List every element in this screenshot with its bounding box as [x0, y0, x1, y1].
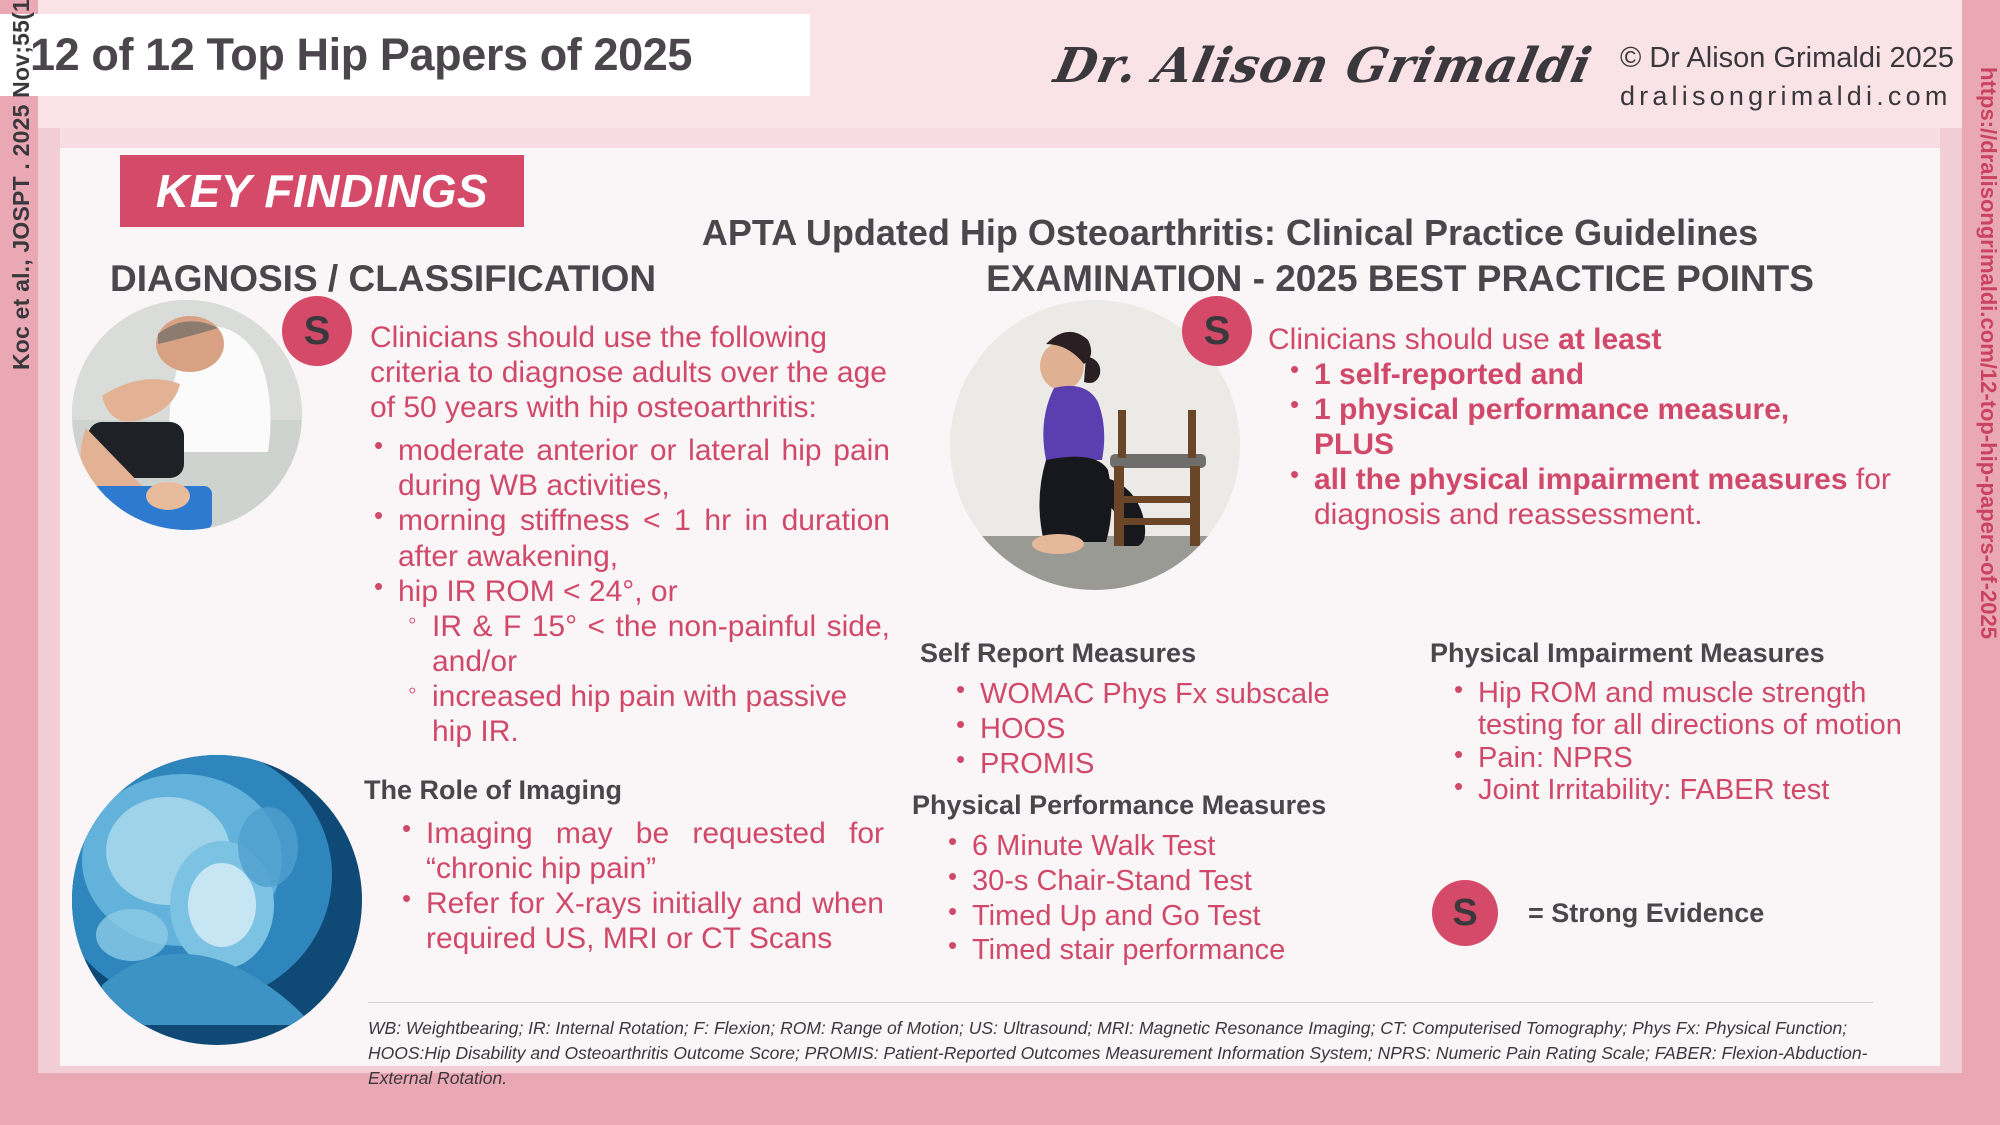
physical-performance-block: Physical Performance Measures 6 Minute W… — [912, 790, 1412, 968]
strong-evidence-badge-diagnosis: S — [282, 296, 352, 366]
journal-citation: Koc et al., JOSPT . 2025 Nov;55(11):CPG1… — [8, 0, 35, 370]
examination-text-block: Clinicians should use at least 1 self-re… — [1268, 322, 1928, 533]
physical-performance-list: 6 Minute Walk Test 30-s Chair-Stand Test… — [944, 829, 1412, 968]
list-item: Imaging may be requested for “chronic hi… — [398, 816, 884, 886]
legend-block: S = Strong Evidence — [1432, 880, 1764, 946]
bullet-continuation: PLUS — [1314, 427, 1928, 462]
self-report-block: Self Report Measures WOMAC Phys Fx subsc… — [920, 638, 1400, 781]
examination-intro-bold: at least — [1558, 323, 1661, 356]
list-item: Timed Up and Go Test — [944, 899, 1412, 934]
list-item: Refer for X-rays initially and when requ… — [398, 886, 884, 956]
page-title-plate: 12 of 12 Top Hip Papers of 2025 — [0, 14, 810, 96]
imaging-heading: The Role of Imaging — [364, 775, 884, 806]
list-item: IR & F 15° < the non-painful side, and/o… — [404, 609, 890, 679]
physical-impairment-list: Hip ROM and muscle strength testing for … — [1450, 677, 1910, 807]
examination-intro-plain: Clinicians should use — [1268, 323, 1558, 356]
hip-exam-illustration-icon — [72, 300, 302, 530]
list-item: 30-s Chair-Stand Test — [944, 864, 1412, 899]
copyright-text: © Dr Alison Grimaldi 2025 — [1620, 42, 1954, 75]
self-report-heading: Self Report Measures — [920, 638, 1400, 669]
diagnosis-text-block: Clinicians should use the following crit… — [370, 320, 890, 749]
list-item: 6 Minute Walk Test — [944, 829, 1412, 864]
list-item: increased hip pain with passive hip IR. — [404, 679, 890, 749]
examination-intro: Clinicians should use at least — [1268, 322, 1928, 357]
frame-band-right — [1940, 128, 1962, 1073]
list-item: 1 self-reported and — [1286, 357, 1928, 392]
physical-performance-heading: Physical Performance Measures — [912, 790, 1412, 821]
bullet-bold: all the physical impairment measures — [1314, 463, 1848, 496]
bullet-bold: 1 self-reported and — [1314, 358, 1584, 391]
list-item: morning stiffness < 1 hr in duration aft… — [370, 503, 890, 573]
list-item: Timed stair performance — [944, 933, 1412, 968]
page-title: 12 of 12 Top Hip Papers of 2025 — [30, 29, 692, 81]
frame-band-left — [38, 128, 60, 1073]
bullet-bold: 1 physical performance measure — [1314, 393, 1781, 426]
list-item: hip IR ROM < 24°, or — [370, 574, 890, 609]
legend-label: = Strong Evidence — [1528, 898, 1764, 929]
signature-logo: Dr. Alison Grimaldi — [1051, 18, 1602, 90]
copyright-block: © Dr Alison Grimaldi 2025 dralisongrimal… — [1620, 18, 1954, 112]
list-item: HOOS — [952, 712, 1400, 747]
hip-xray-illustration-icon — [72, 755, 362, 1045]
brand-block: Dr. Alison Grimaldi © Dr Alison Grimaldi… — [1058, 18, 1954, 112]
list-item: all the physical impairment measures for… — [1286, 462, 1928, 532]
strong-evidence-badge-examination: S — [1182, 296, 1252, 366]
bullet-plain: , — [1781, 393, 1789, 426]
physical-impairment-block: Physical Impairment Measures Hip ROM and… — [1430, 638, 1910, 807]
article-url[interactable]: https://dralisongrimaldi.com/12-top-hip-… — [1975, 0, 2000, 713]
examination-column-heading: EXAMINATION - 2025 BEST PRACTICE POINTS — [900, 258, 1900, 300]
list-item: Hip ROM and muscle strength testing for … — [1450, 677, 1910, 742]
abbreviations-footnote: WB: Weightbearing; IR: Internal Rotation… — [368, 1016, 1873, 1091]
examination-bullet-list: 1 self-reported and 1 physical performan… — [1286, 357, 1928, 532]
physical-impairment-heading: Physical Impairment Measures — [1430, 638, 1910, 669]
key-findings-badge: KEY FINDINGS — [120, 155, 524, 227]
list-item: Joint Irritability: FABER test — [1450, 774, 1910, 806]
hip-xray-photo — [72, 755, 362, 1045]
main-title: APTA Updated Hip Osteoarthritis: Clinica… — [560, 212, 1900, 254]
list-item: Pain: NPRS — [1450, 742, 1910, 774]
imaging-bullet-list: Imaging may be requested for “chronic hi… — [398, 816, 884, 956]
diagnosis-intro: Clinicians should use the following crit… — [370, 320, 890, 425]
imaging-block: The Role of Imaging Imaging may be reque… — [364, 775, 884, 956]
hip-exam-photo — [72, 300, 302, 530]
footnote-divider — [368, 1002, 1873, 1003]
list-item: PROMIS — [952, 747, 1400, 782]
list-item: 1 physical performance measure, PLUS — [1286, 392, 1928, 462]
website-text[interactable]: dralisongrimaldi.com — [1620, 81, 1954, 112]
legend-evidence-badge: S — [1432, 880, 1498, 946]
self-report-list: WOMAC Phys Fx subscale HOOS PROMIS — [952, 677, 1400, 781]
list-item: WOMAC Phys Fx subscale — [952, 677, 1400, 712]
diagnosis-column-heading: DIAGNOSIS / CLASSIFICATION — [110, 258, 656, 300]
diagnosis-bullet-list: moderate anterior or lateral hip pain du… — [370, 433, 890, 608]
diagnosis-sub-bullet-list: IR & F 15° < the non-painful side, and/o… — [404, 609, 890, 749]
list-item: moderate anterior or lateral hip pain du… — [370, 433, 890, 503]
